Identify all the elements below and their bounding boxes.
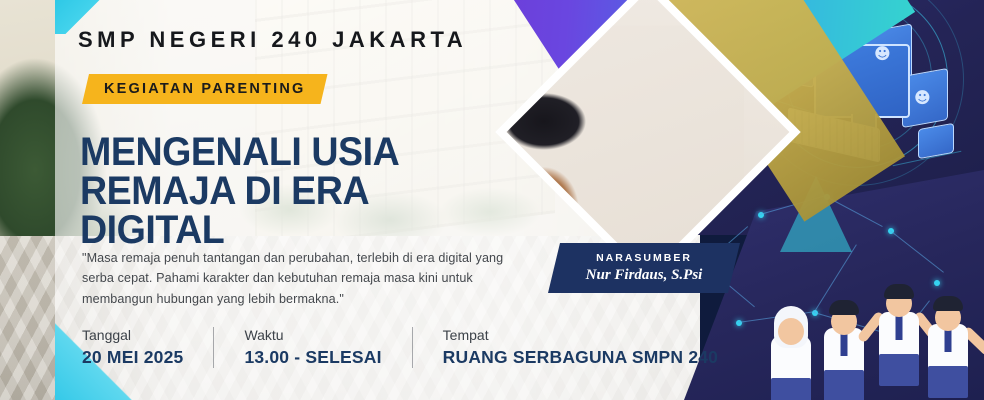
speaker-name-badge: NARASUMBER Nur Firdaus, S.Psi	[548, 243, 740, 293]
banner-content: SMP NEGERI 240 JAKARTA KEGIATAN PARENTIN…	[0, 0, 984, 400]
info-block-time: Waktu 13.00 - SELESAI	[213, 327, 411, 368]
info-label: Tempat	[443, 327, 718, 343]
category-badge-label: KEGIATAN PARENTING	[104, 81, 306, 97]
info-value: 13.00 - SELESAI	[244, 347, 381, 368]
info-block-venue: Tempat RUANG SERBAGUNA SMPN 240	[412, 327, 748, 368]
info-label: Tanggal	[82, 327, 183, 343]
category-badge: KEGIATAN PARENTING	[82, 74, 328, 104]
page-title: MENGENALI USIA REMAJA DI ERA DIGITAL	[80, 133, 522, 251]
event-info-bar: Tanggal 20 MEI 2025 Waktu 13.00 - SELESA…	[82, 327, 748, 368]
info-value: 20 MEI 2025	[82, 347, 183, 368]
speaker-name: Nur Firdaus, S.Psi	[586, 267, 703, 284]
info-block-date: Tanggal 20 MEI 2025	[82, 327, 213, 368]
info-value: RUANG SERBAGUNA SMPN 240	[443, 347, 718, 368]
info-label: Waktu	[244, 327, 381, 343]
speaker-role-label: NARASUMBER	[596, 252, 692, 264]
page-title-line-1: MENGENALI USIA	[80, 130, 399, 174]
event-description-quote: "Masa remaja penuh tantangan dan perubah…	[82, 248, 507, 309]
page-title-line-2: REMAJA DI ERA DIGITAL	[80, 172, 522, 250]
school-name: SMP NEGERI 240 JAKARTA	[78, 27, 467, 53]
event-banner: ☻ ☻ ☻	[0, 0, 984, 400]
